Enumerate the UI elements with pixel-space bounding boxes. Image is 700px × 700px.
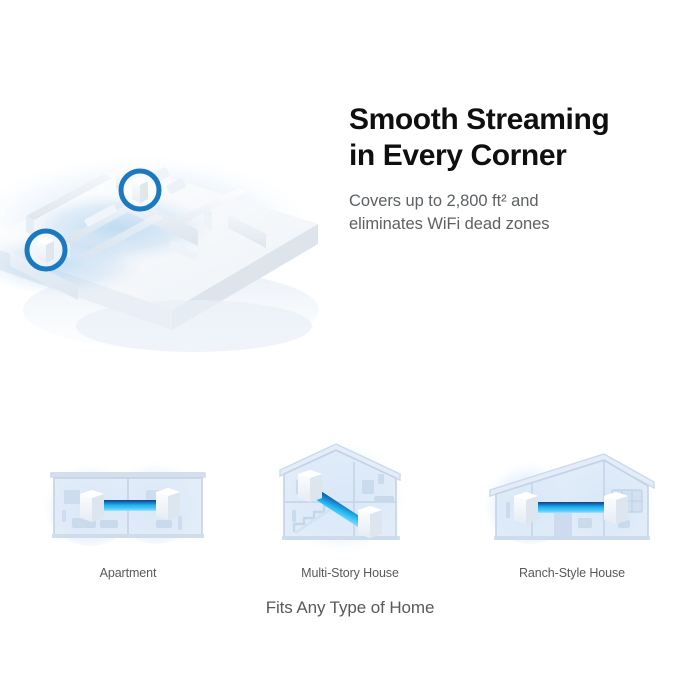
mesh-beam <box>534 502 608 513</box>
mesh-beam <box>96 500 162 511</box>
mesh-unit-right <box>156 488 180 520</box>
hero-section: Smooth Streaming in Every Corner Covers … <box>0 0 700 400</box>
home-types-footnote: Fits Any Type of Home <box>0 598 700 618</box>
home-type-apartment: Apartment <box>17 440 239 580</box>
promo-banner: Smooth Streaming in Every Corner Covers … <box>0 0 700 700</box>
page-title: Smooth Streaming in Every Corner <box>349 102 689 174</box>
mesh-unit-marker-1[interactable] <box>119 169 161 211</box>
mesh-unit-upper <box>298 470 322 502</box>
mesh-unit-right <box>604 492 628 524</box>
mesh-unit-marker-2[interactable] <box>25 229 67 271</box>
home-type-label: Ranch-Style House <box>519 566 625 580</box>
floorplan-drop-shadow <box>76 300 312 352</box>
home-type-label: Multi-Story House <box>301 566 399 580</box>
mesh-unit-left <box>514 492 538 524</box>
hero-subtitle: Covers up to 2,800 ft² and eliminates Wi… <box>349 190 689 237</box>
ranch-style-house-illustration <box>472 440 672 558</box>
multi-story-house-illustration <box>250 440 450 558</box>
home-type-ranch-style-house: Ranch-Style House <box>461 440 683 580</box>
apartment-illustration <box>28 440 228 558</box>
isometric-floorplan-illustration <box>0 96 346 356</box>
hero-copy: Smooth Streaming in Every Corner Covers … <box>349 102 689 237</box>
mesh-unit-left <box>80 490 104 522</box>
home-type-label: Apartment <box>100 566 157 580</box>
mesh-unit-lower <box>358 506 382 538</box>
home-types-row: Apartment <box>0 430 700 580</box>
home-type-multi-story-house: Multi-Story House <box>239 440 461 580</box>
